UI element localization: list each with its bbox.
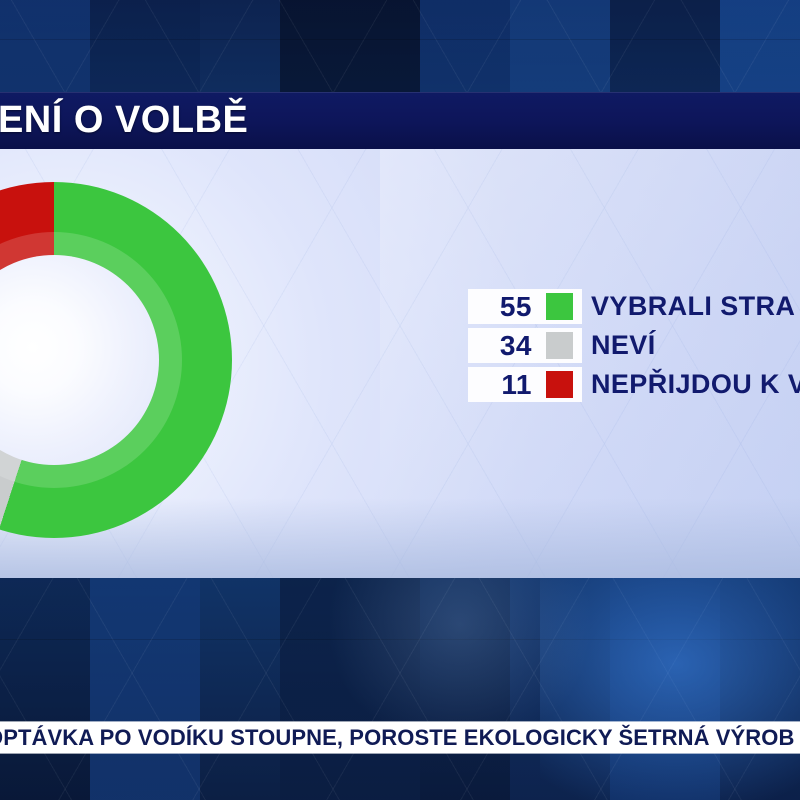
legend-label: VYBRALI STRA — [591, 291, 795, 322]
legend-value: 55 — [468, 291, 532, 323]
legend-item-neprijdou-k-volbam[interactable]: 11 NEPŘIJDOU K V — [468, 367, 800, 402]
legend-value: 34 — [468, 330, 532, 362]
legend-color-swatch-gray — [546, 332, 573, 359]
legend-color-swatch-red — [546, 371, 573, 398]
broadcast-graphic: ČENÍ O VOLBĚ 55 VYBRALI STRA 34 NEVÍ 11 — [0, 0, 800, 800]
legend-item-nevi[interactable]: 34 NEVÍ — [468, 328, 800, 363]
legend-item-vybrali-stranu[interactable]: 55 VYBRALI STRA — [468, 289, 800, 324]
legend-value: 11 — [468, 369, 532, 401]
chart-legend: 55 VYBRALI STRA 34 NEVÍ 11 NEPŘIJDOU K V — [468, 289, 800, 406]
legend-label: NEVÍ — [591, 330, 656, 361]
legend-color-swatch-green — [546, 293, 573, 320]
page-title: ČENÍ O VOLBĚ — [0, 99, 248, 142]
donut-chart — [0, 182, 232, 538]
ticker-text: OPTÁVKA PO VODÍKU STOUPNE, POROSTE EKOLO… — [0, 725, 795, 751]
title-bar: ČENÍ O VOLBĚ — [0, 92, 800, 149]
news-ticker-bar: OPTÁVKA PO VODÍKU STOUPNE, POROSTE EKOLO… — [0, 722, 800, 753]
legend-label: NEPŘIJDOU K V — [591, 369, 800, 400]
